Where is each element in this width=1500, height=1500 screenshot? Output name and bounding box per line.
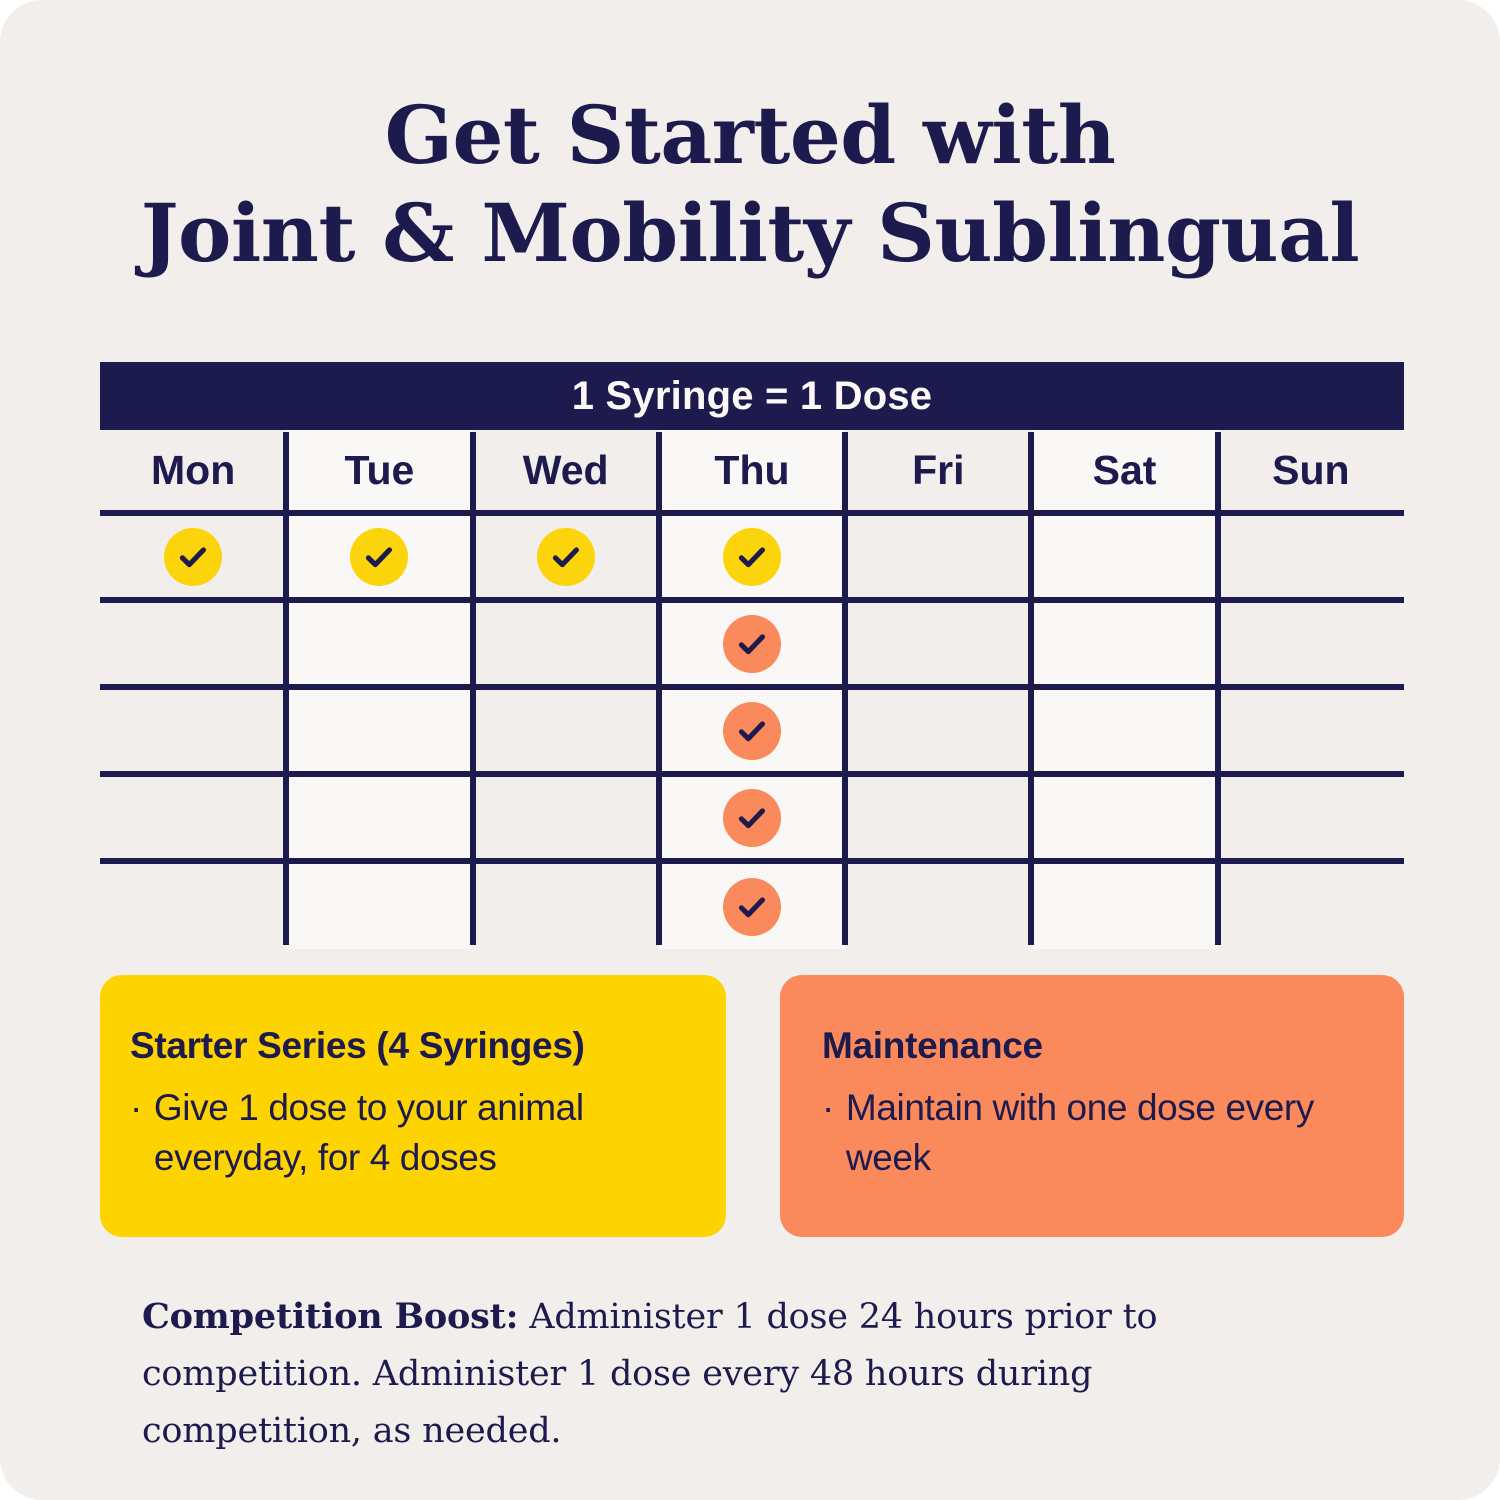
day-header-sun: Sun: [1218, 430, 1404, 510]
schedule-cell-wed-2: [473, 603, 659, 684]
day-header-sat: Sat: [1031, 430, 1217, 510]
check-icon: [723, 878, 781, 936]
title-line-1: Get Started with: [60, 86, 1440, 184]
starter-series-bullet-text: Give 1 dose to your animal everyday, for…: [154, 1083, 690, 1183]
check-icon: [723, 789, 781, 847]
schedule-cell-sun-3: [1218, 690, 1404, 771]
check-icon: [723, 528, 781, 586]
schedule-row: [100, 684, 1404, 771]
schedule-cell-sat-1: [1031, 516, 1217, 597]
maintenance-title: Maintenance: [822, 1023, 1368, 1069]
infographic-card: Get Started with Joint & Mobility Sublin…: [0, 0, 1500, 1500]
schedule-cell-sun-1: [1218, 516, 1404, 597]
schedule-cell-mon-2: [100, 603, 286, 684]
schedule-cell-tue-3: [286, 690, 472, 771]
schedule-cell-sun-4: [1218, 777, 1404, 858]
schedule-cell-wed-1: [473, 516, 659, 597]
schedule-cell-tue-4: [286, 777, 472, 858]
check-icon: [723, 702, 781, 760]
day-header-tue: Tue: [286, 430, 472, 510]
schedule-cell-sat-4: [1031, 777, 1217, 858]
schedule-cell-wed-5: [473, 864, 659, 949]
schedule-cell-fri-2: [845, 603, 1031, 684]
check-icon: [350, 528, 408, 586]
schedule-cell-tue-2: [286, 603, 472, 684]
day-header-thu: Thu: [659, 430, 845, 510]
schedule-cell-wed-4: [473, 777, 659, 858]
competition-boost-note: Competition Boost: Administer 1 dose 24 …: [142, 1288, 1322, 1460]
schedule-banner: 1 Syringe = 1 Dose: [100, 362, 1404, 430]
schedule-cell-tue-1: [286, 516, 472, 597]
maintenance-bullet: · Maintain with one dose every week: [822, 1083, 1368, 1183]
schedule-cell-fri-1: [845, 516, 1031, 597]
maintenance-bullet-text: Maintain with one dose every week: [846, 1083, 1368, 1183]
schedule-cell-fri-4: [845, 777, 1031, 858]
schedule-cell-thu-1: [659, 516, 845, 597]
schedule-cell-sat-5: [1031, 864, 1217, 949]
page-title: Get Started with Joint & Mobility Sublin…: [60, 86, 1440, 282]
schedule-body: [100, 510, 1404, 949]
schedule-cell-thu-2: [659, 603, 845, 684]
competition-boost-label: Competition Boost:: [142, 1296, 518, 1337]
schedule-cell-sat-2: [1031, 603, 1217, 684]
schedule-cell-mon-5: [100, 864, 286, 949]
starter-series-card: Starter Series (4 Syringes) · Give 1 dos…: [100, 975, 726, 1237]
schedule-header-row: Mon Tue Wed Thu Fri Sat Sun: [100, 430, 1404, 510]
check-icon: [164, 528, 222, 586]
schedule-cell-sun-5: [1218, 864, 1404, 949]
bullet-dot-icon: ·: [130, 1083, 142, 1183]
check-icon: [723, 615, 781, 673]
schedule-cell-tue-5: [286, 864, 472, 949]
title-line-2: Joint & Mobility Sublingual: [60, 184, 1440, 282]
schedule-cell-mon-1: [100, 516, 286, 597]
dosing-schedule-table: 1 Syringe = 1 Dose Mon Tue Wed Thu Fri S…: [100, 362, 1404, 949]
schedule-cell-sat-3: [1031, 690, 1217, 771]
day-header-wed: Wed: [473, 430, 659, 510]
schedule-grid: Mon Tue Wed Thu Fri Sat Sun: [100, 430, 1404, 949]
schedule-cell-thu-4: [659, 777, 845, 858]
schedule-cell-sun-2: [1218, 603, 1404, 684]
starter-series-bullet: · Give 1 dose to your animal everyday, f…: [130, 1083, 690, 1183]
check-icon: [537, 528, 595, 586]
day-header-fri: Fri: [845, 430, 1031, 510]
schedule-row: [100, 510, 1404, 597]
schedule-cell-thu-5: [659, 864, 845, 949]
schedule-cell-wed-3: [473, 690, 659, 771]
schedule-cell-mon-3: [100, 690, 286, 771]
starter-series-title: Starter Series (4 Syringes): [130, 1023, 690, 1069]
day-header-mon: Mon: [100, 430, 286, 510]
schedule-cell-fri-3: [845, 690, 1031, 771]
schedule-row: [100, 858, 1404, 949]
maintenance-card: Maintenance · Maintain with one dose eve…: [780, 975, 1404, 1237]
bullet-dot-icon: ·: [822, 1083, 834, 1183]
schedule-cell-fri-5: [845, 864, 1031, 949]
schedule-row: [100, 771, 1404, 858]
schedule-row: [100, 597, 1404, 684]
schedule-cell-mon-4: [100, 777, 286, 858]
schedule-cell-thu-3: [659, 690, 845, 771]
